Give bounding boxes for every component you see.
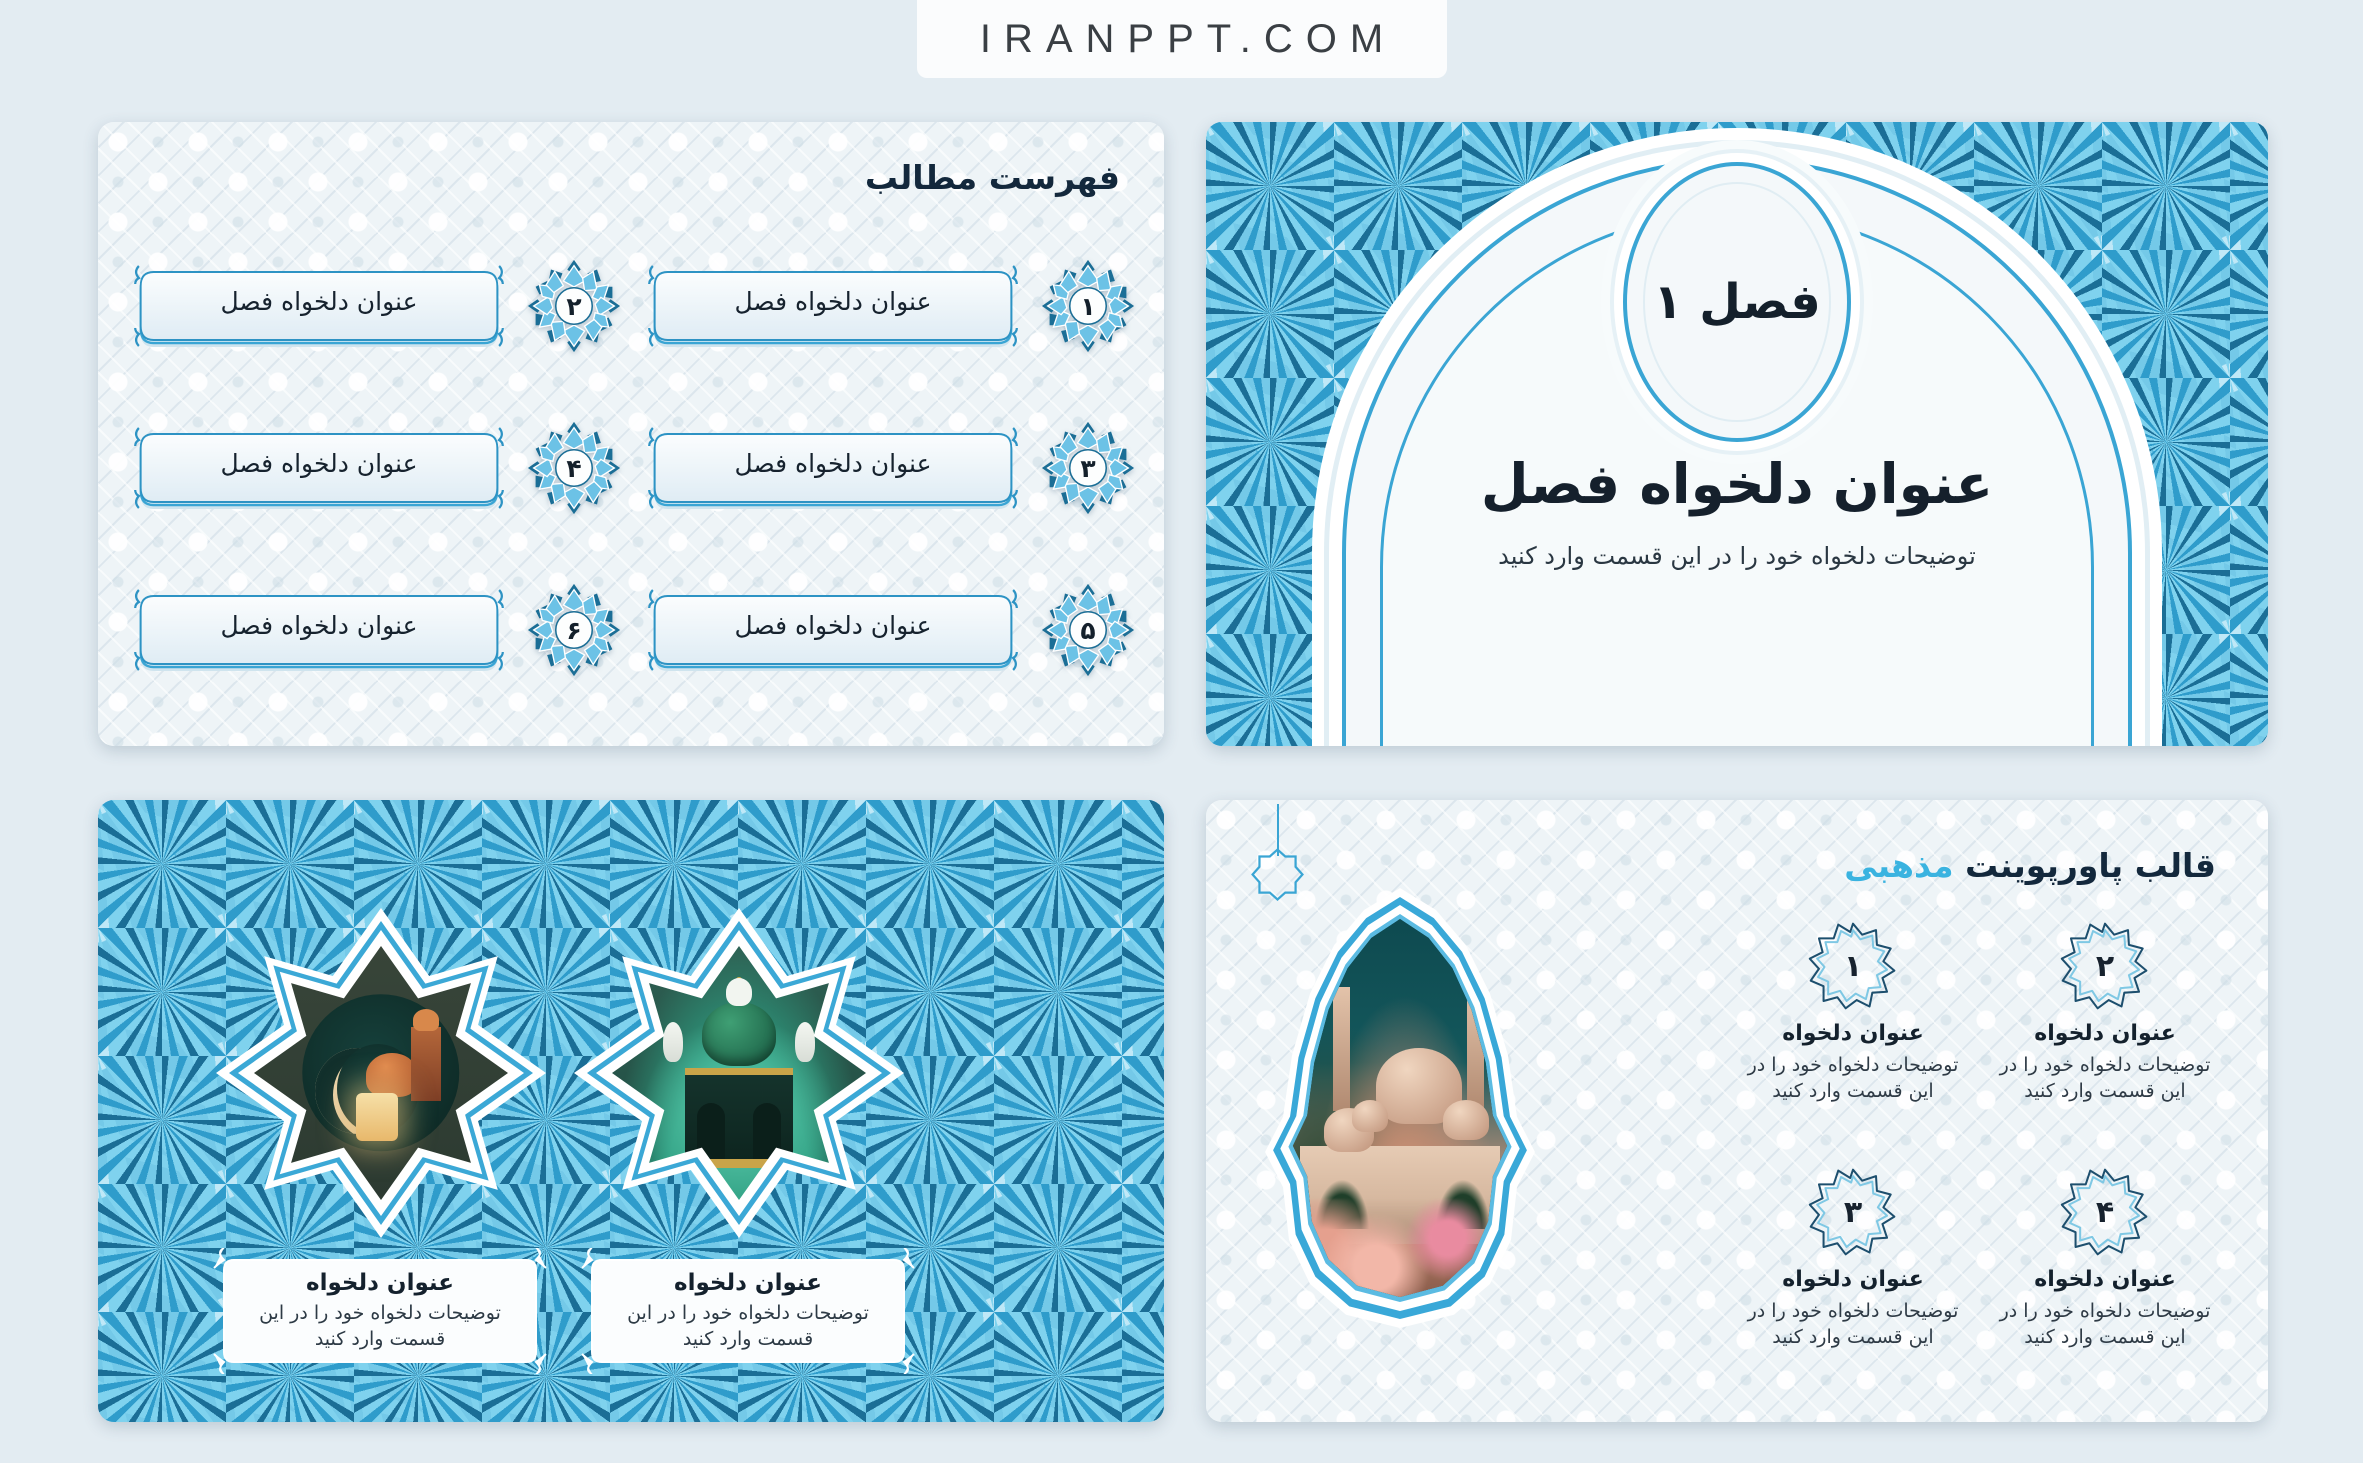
- toc-item-number: ۵: [1040, 582, 1136, 678]
- chapter-badge-label: فصل ۱: [1653, 274, 1821, 330]
- rosette-medallion-icon: ۶: [526, 582, 622, 678]
- lantern-dome-shape: [702, 1002, 776, 1066]
- toc-item-number: ۳: [1040, 420, 1136, 516]
- toc-item-plate[interactable]: عنوان دلخواه فصل: [640, 584, 1026, 676]
- toc-row[interactable]: ۱ عنوان دلخواه فصل: [640, 230, 1136, 382]
- caption-body: توضیحات دلخواه خود را در این قسمت وارد ک…: [600, 1301, 896, 1351]
- gallery-caption-card[interactable]: عنوان دلخواه توضیحات دلخواه خود را در ای…: [210, 1248, 550, 1374]
- overview-item[interactable]: ۱ عنوان دلخواه توضیحات دلخواه خود را در …: [1734, 920, 1972, 1148]
- mosque-lantern-green-photo: [612, 946, 866, 1200]
- toc-item-label: عنوان دلخواه فصل: [126, 422, 512, 514]
- rosette-medallion-icon: ۵: [1040, 582, 1136, 678]
- side-dome-center: [1352, 1100, 1388, 1132]
- toc-item-number: ۴: [526, 420, 622, 516]
- chapter-subtitle: توضیحات دلخواه خود را در این قسمت وارد ک…: [1206, 542, 2268, 570]
- toc-row[interactable]: ۶ عنوان دلخواه فصل: [126, 554, 622, 706]
- toc-item-label: عنوان دلخواه فصل: [640, 260, 1026, 352]
- star-photo-frame[interactable]: [574, 908, 904, 1238]
- hanging-ornament-left: [663, 1022, 683, 1062]
- overview-item-number: ۲: [2059, 920, 2151, 1012]
- toc-item-number: ۱: [1040, 258, 1136, 354]
- rosette-medallion-icon: ۴: [526, 420, 622, 516]
- overview-item-body: توضیحات دلخواه خود را در این قسمت وارد ک…: [1734, 1053, 1972, 1104]
- gallery-caption-card[interactable]: عنوان دلخواه توضیحات دلخواه خود را در ای…: [578, 1248, 918, 1374]
- caption-title: عنوان دلخواه: [306, 1270, 454, 1296]
- star-number-badge-icon: ۱: [1807, 920, 1899, 1012]
- overview-item-title: عنوان دلخواه: [1782, 1021, 1924, 1046]
- toc-items-grid: ۱ عنوان دلخواه فصل: [126, 230, 1136, 706]
- toc-item-label: عنوان دلخواه فصل: [640, 584, 1026, 676]
- watermark-banner: IRANPPT.COM: [917, 0, 1447, 78]
- overview-item-title: عنوان دلخواه: [2034, 1267, 2176, 1292]
- toc-item-plate[interactable]: عنوان دلخواه فصل: [126, 422, 512, 514]
- star-number-badge-icon: ۳: [1807, 1166, 1899, 1258]
- caption-content: عنوان دلخواه توضیحات دلخواه خود را در ای…: [210, 1248, 550, 1374]
- watermark-text: IRANPPT.COM: [967, 17, 1396, 62]
- star-number-badge-icon: ۴: [2059, 1166, 2151, 1258]
- chapter-badge: فصل ۱: [1623, 162, 1851, 442]
- rosette-medallion-icon: ۳: [1040, 420, 1136, 516]
- star-photo-window: [254, 946, 508, 1200]
- rosette-medallion-icon: ۲: [526, 258, 622, 354]
- overview-item[interactable]: ۲ عنوان دلخواه توضیحات دلخواه خود را در …: [1986, 920, 2224, 1148]
- overview-item-title: عنوان دلخواه: [1782, 1267, 1924, 1292]
- toc-item-plate[interactable]: عنوان دلخواه فصل: [640, 260, 1026, 352]
- overview-item-number: ۴: [2059, 1166, 2151, 1258]
- crescent-moon-mosque-photo: [254, 946, 508, 1200]
- overview-item[interactable]: ۴ عنوان دلخواه توضیحات دلخواه خود را در …: [1986, 1166, 2224, 1394]
- toc-item-label: عنوان دلخواه فصل: [126, 260, 512, 352]
- toc-row[interactable]: ۵ عنوان دلخواه فصل: [640, 554, 1136, 706]
- minaret-shape: [411, 1027, 441, 1101]
- overview-item-number: ۱: [1807, 920, 1899, 1012]
- toc-item-plate[interactable]: عنوان دلخواه فصل: [126, 584, 512, 676]
- toc-row[interactable]: ۲ عنوان دلخواه فصل: [126, 230, 622, 382]
- toc-row[interactable]: ۴ عنوان دلخواه فصل: [126, 392, 622, 544]
- rosette-medallion-icon: ۱: [1040, 258, 1136, 354]
- overview-item-body: توضیحات دلخواه خود را در این قسمت وارد ک…: [1986, 1053, 2224, 1104]
- slide-image-gallery[interactable]: عنوان دلخواه توضیحات دلخواه خود را در ای…: [98, 800, 1164, 1422]
- star-photo-frame[interactable]: [216, 908, 546, 1238]
- caption-content: عنوان دلخواه توضیحات دلخواه خود را در ای…: [578, 1248, 918, 1374]
- slide-table-of-contents[interactable]: فهرست مطالب: [98, 122, 1164, 746]
- toc-row[interactable]: ۳ عنوان دلخواه فصل: [640, 392, 1136, 544]
- slide-chapter-cover[interactable]: فصل ۱ عنوان دلخواه فصل توضیحات دلخواه خو…: [1206, 122, 2268, 746]
- overview-item-number: ۳: [1807, 1166, 1899, 1258]
- slide-deck: فهرست مطالب: [0, 0, 2363, 1463]
- hanging-ornament-right: [795, 1022, 815, 1062]
- chapter-title: عنوان دلخواه فصل: [1206, 452, 2268, 516]
- overview-title-main: قالب پاورپوینت: [1965, 846, 2216, 885]
- star-number-badge-icon: ۲: [2059, 920, 2151, 1012]
- star-photo-window: [612, 946, 866, 1200]
- side-dome-right: [1443, 1100, 1489, 1140]
- overview-item-body: توضیحات دلخواه خود را در این قسمت وارد ک…: [1986, 1299, 2224, 1350]
- toc-item-number: ۶: [526, 582, 622, 678]
- overview-item-body: توضیحات دلخواه خود را در این قسمت وارد ک…: [1734, 1299, 1972, 1350]
- caption-title: عنوان دلخواه: [674, 1270, 822, 1296]
- glowing-lantern-shape: [356, 1093, 398, 1141]
- caption-body: توضیحات دلخواه خود را در این قسمت وارد ک…: [232, 1301, 528, 1351]
- overview-title-accent: مذهبی: [1844, 846, 1953, 885]
- overview-title: قالب پاورپوینت مذهبی: [1844, 846, 2216, 885]
- toc-item-plate[interactable]: عنوان دلخواه فصل: [126, 260, 512, 352]
- mosque-dome-shape: [366, 1053, 418, 1097]
- slide-overview[interactable]: قالب پاورپوینت مذهبی ۲ عنوان دلخواه توضی…: [1206, 800, 2268, 1422]
- toc-item-plate[interactable]: عنوان دلخواه فصل: [640, 422, 1026, 514]
- overview-item-title: عنوان دلخواه: [2034, 1021, 2176, 1046]
- overview-item[interactable]: ۳ عنوان دلخواه توضیحات دلخواه خود را در …: [1734, 1166, 1972, 1394]
- overview-items-grid: ۲ عنوان دلخواه توضیحات دلخواه خود را در …: [1734, 920, 2224, 1394]
- mosque-photo-frame[interactable]: [1250, 888, 1550, 1328]
- toc-item-number: ۲: [526, 258, 622, 354]
- mihrab-arch-group: فصل ۱ عنوان دلخواه فصل توضیحات دلخواه خو…: [1206, 122, 2268, 746]
- minaret-left: [1333, 987, 1350, 1111]
- toc-title: فهرست مطالب: [865, 158, 1120, 197]
- toc-item-label: عنوان دلخواه فصل: [640, 422, 1026, 514]
- toc-item-label: عنوان دلخواه فصل: [126, 584, 512, 676]
